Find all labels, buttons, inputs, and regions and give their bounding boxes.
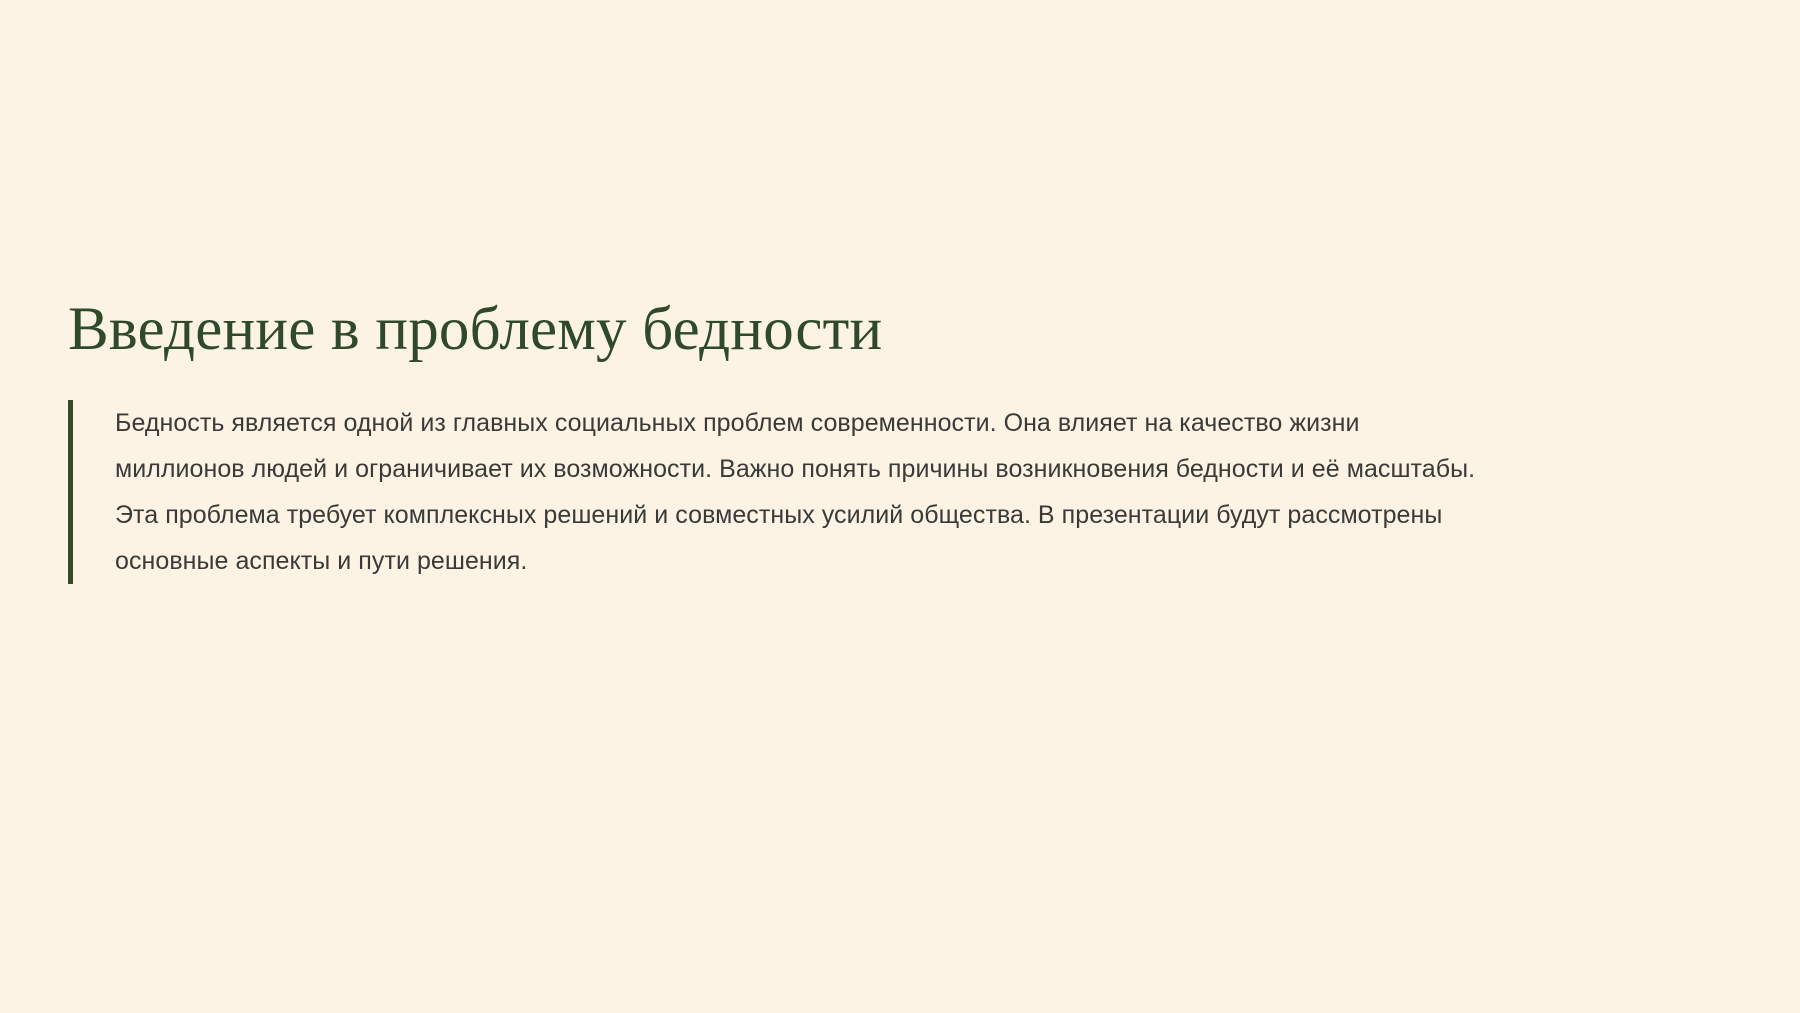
presentation-slide: Введение в проблему бедности Бедность яв…: [0, 0, 1800, 1013]
body-paragraph: Бедность является одной из главных социа…: [115, 400, 1485, 584]
accent-bar: [68, 400, 73, 584]
slide-content: Введение в проблему бедности Бедность яв…: [68, 296, 1528, 584]
body-quote-block: Бедность является одной из главных социа…: [68, 400, 1528, 584]
page-title: Введение в проблему бедности: [68, 296, 1528, 364]
